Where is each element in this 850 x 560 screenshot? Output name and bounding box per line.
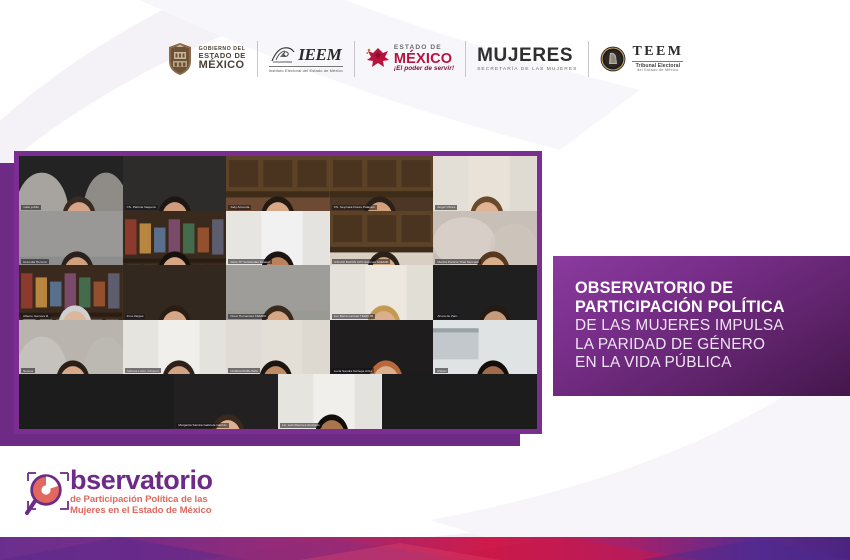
ieem-emblem-icon <box>270 45 296 65</box>
participant-video <box>19 320 123 375</box>
participant-video <box>226 265 330 320</box>
participant-name-label: CS. Patricia Vaquera <box>125 205 158 210</box>
video-tile[interactable]: Lucia Sandra Noriega Ariza <box>330 320 434 375</box>
participant-video <box>226 320 330 375</box>
teem-line3: del Estado de México <box>632 69 683 73</box>
participant-name-label: Martha Patricia Tinal Mercado <box>435 259 481 264</box>
video-tile[interactable]: CS. Patricia Vaquera <box>123 156 227 211</box>
edomex-bird-icon <box>366 46 390 72</box>
participant-video <box>19 265 123 320</box>
participant-name-label: Angel Vibora <box>435 205 457 210</box>
participant-video <box>123 156 227 211</box>
video-tile[interactable]: Serena <box>19 320 123 375</box>
headline-line-1: OBSERVATORIO DE <box>575 279 850 298</box>
video-tile[interactable]: Omar Hernandez FEMDO <box>226 265 330 320</box>
participant-video <box>330 265 434 320</box>
teem-title: TEEM <box>632 45 683 60</box>
video-tile[interactable]: Ahora de Zarn <box>433 265 537 320</box>
video-tile[interactable] <box>123 211 227 266</box>
observatorio-logo: bservatorio de Participación Política de… <box>22 467 213 523</box>
video-tile[interactable]: OSCAR BAZÁN CPC Edoméx SAEMM <box>330 211 434 266</box>
video-tile[interactable]: CS. Seymara Flores Palacios <box>330 156 434 211</box>
participant-video <box>278 374 382 429</box>
video-tile[interactable]: Martha Patricia Tinal Mercado <box>433 211 537 266</box>
logo-teem: TEEM Tribunal Electoral del Estado de Mé… <box>589 33 694 85</box>
participant-name-label: Ahora de Zarn <box>435 314 459 319</box>
video-grid-row: Serena Adriana Lucio, Infosem NORMA BOBL… <box>19 320 537 375</box>
video-tile[interactable]: Adriana Lucio, Infosem <box>123 320 227 375</box>
video-tile[interactable]: Irma Vargas <box>123 265 227 320</box>
participant-name-label: Alicia TP Solidaridad Estatal <box>228 259 271 264</box>
video-tile[interactable]: NORMA BOBLINZA <box>226 320 330 375</box>
video-tile[interactable]: Luz María Larmas TEEM JR <box>330 265 434 320</box>
headline-line-5: EN LA VIDA PÚBLICA <box>575 354 850 372</box>
participant-name-label: Lic. seth Ramírez Alvarado <box>280 423 322 428</box>
participant-video <box>19 156 123 211</box>
participant-name-label: OSCAR BAZÁN CPC Edoméx SAEMM <box>332 259 391 264</box>
video-grid-row: Ana Lilia Herrera Alicia TP Solidaridad … <box>19 211 537 266</box>
participant-name-label: mala yubile <box>21 205 41 210</box>
observatorio-line2: de Participación Política de las <box>70 495 213 505</box>
participant-video <box>330 211 434 266</box>
observatorio-line3: Mujeres en el Estado de México <box>70 506 213 516</box>
observatorio-word: bservatorio <box>70 467 213 494</box>
video-grid-last-row: Margarita Sandra Gabriela Garrido Lic. s… <box>19 374 537 429</box>
video-conference-collage: mala yubile CS. Patricia Vaquera Judy Ar… <box>14 151 542 434</box>
video-tile[interactable]: Margarita Sandra Gabriela Garrido <box>174 374 278 429</box>
video-tile[interactable]: Judy Armenta <box>226 156 330 211</box>
edomex-line3: ¡El poder de servir! <box>394 66 454 73</box>
participant-name-label: Adriana Lucio, Infosem <box>125 368 161 373</box>
participant-video <box>433 320 537 375</box>
participant-video <box>123 265 227 320</box>
participant-video <box>19 211 123 266</box>
video-grid-row: Alberto Gamora R. Irma Vargas Omar Herna… <box>19 265 537 320</box>
ieem-subtitle: Instituto Electoral del Estado de México <box>269 66 343 73</box>
video-tile[interactable]: Alicia TP Solidaridad Estatal <box>226 211 330 266</box>
participant-name-label: Judy Armenta <box>228 205 251 210</box>
participant-video <box>433 156 537 211</box>
participant-name-label: Rafael <box>435 368 448 373</box>
edomex-line2: MÉXICO <box>394 52 454 67</box>
mujeres-title: MUJERES <box>477 46 577 66</box>
participant-name-label: Ana Lilia Herrera <box>21 259 49 264</box>
logo-gobierno-estado-mexico: GOBIERNO DEL ESTADO DE MÉXICO <box>156 33 257 85</box>
headline-panel: OBSERVATORIO DE PARTICIPACIÓN POLÍTICA D… <box>553 256 850 396</box>
ieem-title: IEEM <box>298 45 341 65</box>
participant-video <box>123 211 227 266</box>
participant-name-label: Lucia Sandra Noriega Ariza <box>332 368 374 373</box>
headline-line-3: DE LAS MUJERES IMPULSA <box>575 317 850 335</box>
logo-ieem: IEEM Instituto Electoral del Estado de M… <box>258 33 354 85</box>
mujeres-subtitle: SECRETARÍA DE LAS MUJERES <box>477 67 577 72</box>
participant-name-label: Omar Hernandez FEMDO <box>228 314 268 319</box>
participant-video <box>330 156 434 211</box>
video-grid-row: mala yubile CS. Patricia Vaquera Judy Ar… <box>19 156 537 211</box>
participant-video <box>433 211 537 266</box>
participant-name-label: Irma Vargas <box>125 314 146 319</box>
video-tile[interactable]: Lic. seth Ramírez Alvarado <box>278 374 382 429</box>
gem-line3: MÉXICO <box>199 60 246 72</box>
video-tile[interactable]: mala yubile <box>19 156 123 211</box>
participant-name-label: CS. Seymara Flores Palacios <box>332 205 377 210</box>
participant-video <box>123 320 227 375</box>
participant-name-label: Serena <box>21 368 35 373</box>
participant-name-label: NORMA BOBLINZA <box>228 368 260 373</box>
bottom-color-bar <box>0 537 850 560</box>
logo-mujeres: MUJERES SECRETARÍA DE LAS MUJERES <box>466 33 588 85</box>
participant-name-label: Alberto Gamora R. <box>21 314 51 319</box>
video-tile[interactable]: Ana Lilia Herrera <box>19 211 123 266</box>
participant-name-label: Margarita Sandra Gabriela Garrido <box>176 423 228 428</box>
video-tile[interactable]: Alberto Gamora R. <box>19 265 123 320</box>
video-tile[interactable]: Rafael <box>433 320 537 375</box>
participant-name-label: Luz María Larmas TEEM JR <box>332 314 375 319</box>
participant-video <box>433 265 537 320</box>
participant-video <box>330 320 434 375</box>
gem-shield-icon <box>167 42 193 76</box>
participant-video <box>226 211 330 266</box>
header-logo-strip: GOBIERNO DEL ESTADO DE MÉXICO IEEM Insti… <box>0 28 850 90</box>
teem-seal-icon <box>600 46 626 72</box>
video-grid: mala yubile CS. Patricia Vaquera Judy Ar… <box>19 156 537 429</box>
headline-line-2: PARTICIPACIÓN POLÍTICA <box>575 298 850 317</box>
participant-video <box>226 156 330 211</box>
participant-video <box>174 374 278 429</box>
observatorio-magnifier-icon <box>22 469 74 523</box>
video-tile[interactable]: Angel Vibora <box>433 156 537 211</box>
headline-line-4: LA PARIDAD DE GÉNERO <box>575 336 850 354</box>
logo-estado-de-mexico: ESTADO DE MÉXICO ¡El poder de servir! <box>355 33 465 85</box>
